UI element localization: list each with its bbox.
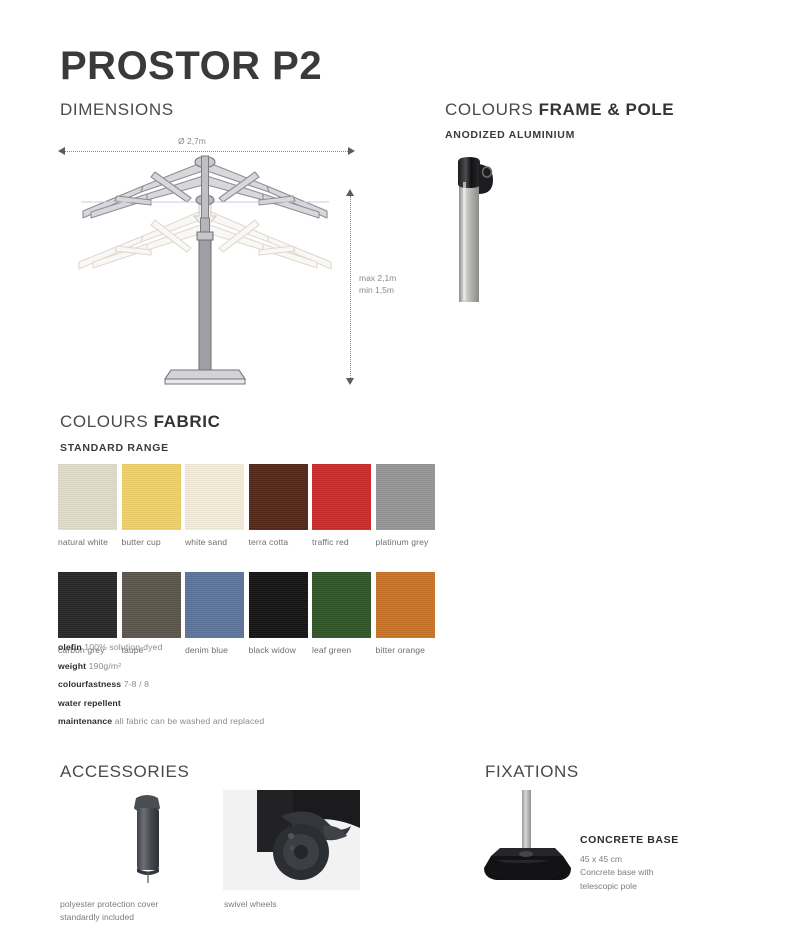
spec-row: water repellent bbox=[58, 698, 264, 708]
spec-row: weight 190g/m² bbox=[58, 661, 264, 671]
dimensions-heading: DIMENSIONS bbox=[60, 100, 174, 120]
polyester-protection-cover-photo bbox=[92, 790, 202, 885]
fabric-heading: COLOURS FABRIC bbox=[60, 412, 220, 432]
frame-pole-heading: COLOURS FRAME & POLE bbox=[445, 100, 674, 120]
spec-label: olefin bbox=[58, 642, 82, 652]
spec-value: 7-8 / 8 bbox=[124, 679, 149, 689]
swatch-color-chip bbox=[122, 572, 181, 638]
concrete-base-desc-line2: Concrete base with bbox=[580, 867, 654, 877]
fabric-swatch-terra-cotta[interactable]: terra cotta bbox=[249, 464, 313, 547]
spec-row: colourfastness 7-8 / 8 bbox=[58, 679, 264, 689]
spec-value: 100% solution-dyed bbox=[84, 642, 162, 652]
accessory-caption-line2: standardly included bbox=[60, 912, 134, 922]
fabric-heading-bold: FABRIC bbox=[154, 412, 221, 431]
swatch-label: butter cup bbox=[122, 537, 186, 547]
concrete-base-photo bbox=[478, 790, 578, 895]
swatch-label: white sand bbox=[185, 537, 249, 547]
parasol-frame-technical-drawing bbox=[55, 132, 365, 402]
accessory-caption-cover: polyester protection cover standardly in… bbox=[60, 898, 158, 924]
swatch-color-chip bbox=[122, 464, 181, 530]
frame-pole-heading-regular: COLOURS bbox=[445, 100, 539, 119]
fabric-swatch-grid: natural white butter cup white sand terr… bbox=[58, 464, 440, 655]
fabric-swatch-butter-cup[interactable]: butter cup bbox=[122, 464, 186, 547]
swatch-label: terra cotta bbox=[249, 537, 313, 547]
swatch-color-chip bbox=[312, 464, 371, 530]
spec-value: all fabric can be washed and replaced bbox=[115, 716, 265, 726]
anodized-aluminium-subheading: ANODIZED ALUMINIUM bbox=[445, 129, 575, 141]
swatch-color-chip bbox=[312, 572, 371, 638]
spec-value: 190g/m² bbox=[89, 661, 122, 671]
spec-label: weight bbox=[58, 661, 86, 671]
spec-label: water repellent bbox=[58, 698, 121, 708]
fabric-specifications-list: olefin 100% solution-dyed weight 190g/m²… bbox=[58, 642, 264, 735]
accessories-heading: ACCESSORIES bbox=[60, 762, 189, 782]
standard-range-subheading: STANDARD RANGE bbox=[60, 442, 169, 454]
swatch-label: bitter orange bbox=[376, 645, 440, 655]
fabric-swatch-bitter-orange[interactable]: bitter orange bbox=[376, 572, 440, 655]
fabric-swatch-leaf-green[interactable]: leaf green bbox=[312, 572, 376, 655]
spec-row: maintenance all fabric can be washed and… bbox=[58, 716, 264, 726]
concrete-base-title: CONCRETE BASE bbox=[580, 834, 679, 846]
spec-row: olefin 100% solution-dyed bbox=[58, 642, 264, 652]
frame-pole-heading-bold: FRAME & POLE bbox=[539, 100, 675, 119]
page-title: PROSTOR P2 bbox=[60, 44, 322, 89]
swatch-color-chip bbox=[376, 572, 435, 638]
concrete-base-desc-line1: 45 x 45 cm bbox=[580, 854, 622, 864]
spec-label: maintenance bbox=[58, 716, 112, 726]
swatch-label: traffic red bbox=[312, 537, 376, 547]
swatch-color-chip bbox=[58, 572, 117, 638]
swatch-color-chip bbox=[249, 572, 308, 638]
concrete-base-desc-line3: telescopic pole bbox=[580, 881, 637, 891]
swatch-color-chip bbox=[185, 464, 244, 530]
fabric-heading-regular: COLOURS bbox=[60, 412, 154, 431]
concrete-base-description: 45 x 45 cm Concrete base with telescopic… bbox=[580, 853, 654, 893]
swatch-color-chip bbox=[249, 464, 308, 530]
swatch-label: leaf green bbox=[312, 645, 376, 655]
swatch-color-chip bbox=[58, 464, 117, 530]
swatch-color-chip bbox=[376, 464, 435, 530]
fixations-heading: FIXATIONS bbox=[485, 762, 579, 782]
swatch-color-chip bbox=[185, 572, 244, 638]
swatch-label: natural white bbox=[58, 537, 122, 547]
accessory-caption-line1: polyester protection cover bbox=[60, 899, 158, 909]
accessory-caption-wheels: swivel wheels bbox=[224, 898, 277, 911]
swatch-label: platinum grey bbox=[376, 537, 440, 547]
spec-label: colourfastness bbox=[58, 679, 121, 689]
spec-sheet-page: PROSTOR P2 DIMENSIONS Ø 2,7m max 2,1m mi… bbox=[0, 0, 791, 936]
fabric-swatch-natural-white[interactable]: natural white bbox=[58, 464, 122, 547]
fabric-swatch-traffic-red[interactable]: traffic red bbox=[312, 464, 376, 547]
anodized-aluminium-pole-photo bbox=[448, 152, 528, 302]
swivel-wheels-photo bbox=[223, 790, 360, 890]
fabric-swatch-white-sand[interactable]: white sand bbox=[185, 464, 249, 547]
accessory-caption-line1: swivel wheels bbox=[224, 899, 277, 909]
fabric-swatch-platinum-grey[interactable]: platinum grey bbox=[376, 464, 440, 547]
